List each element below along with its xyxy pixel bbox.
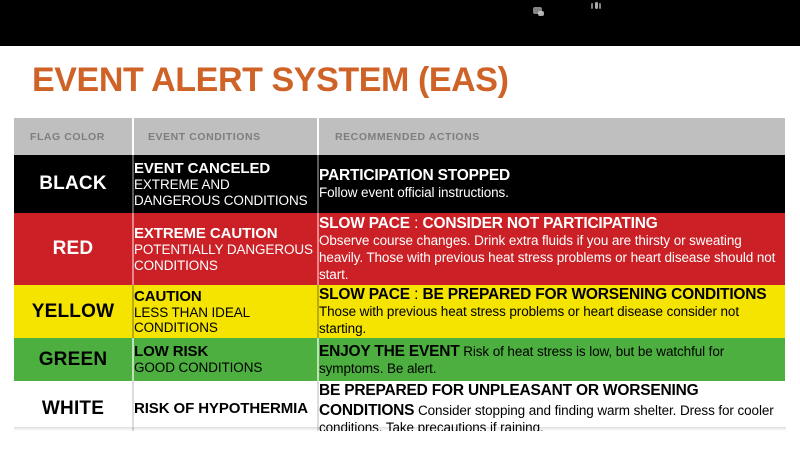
table-row: RED EXTREME CAUTION POTENTIALLY DANGEROU… <box>14 213 785 285</box>
recommended-actions-black: PARTICIPATION STOPPED Follow event offic… <box>318 155 785 213</box>
artifact-speck-icon <box>599 3 601 9</box>
action-headline: PARTICIPATION STOPPED <box>319 167 510 184</box>
action-headline: SLOW PACE <box>319 286 410 303</box>
recommended-actions-yellow: SLOW PACE : BE PREPARED FOR WORSENING CO… <box>318 285 785 338</box>
action-headline: ENJOY THE EVENT <box>319 343 460 360</box>
column-header-flag-color: FLAG COLOR <box>14 118 133 155</box>
event-conditions-green: LOW RISK GOOD CONDITIONS <box>133 338 318 381</box>
column-header-event-conditions: EVENT CONDITIONS <box>133 118 318 155</box>
artifact-speck-icon <box>591 3 593 9</box>
document-sheet: EVENT ALERT SYSTEM (EAS) FLAG COLOR EVEN… <box>14 46 786 428</box>
column-header-recommended-actions: RECOMMENDED ACTIONS <box>318 118 785 155</box>
table-row: GREEN LOW RISK GOOD CONDITIONS ENJOY THE… <box>14 338 785 381</box>
page-bottom-area <box>0 431 800 463</box>
event-conditions-red: EXTREME CAUTION POTENTIALLY DANGEROUS CO… <box>133 213 318 285</box>
event-alert-system-table: FLAG COLOR EVENT CONDITIONS RECOMMENDED … <box>14 118 785 438</box>
recommended-actions-green: ENJOY THE EVENT Risk of heat stress is l… <box>318 338 785 381</box>
flag-color-yellow: YELLOW <box>14 285 133 338</box>
condition-title: CAUTION <box>134 288 317 305</box>
table-header-row: FLAG COLOR EVENT CONDITIONS RECOMMENDED … <box>14 118 785 155</box>
flag-color-red: RED <box>14 213 133 285</box>
action-body: Those with previous heat stress problems… <box>319 304 739 336</box>
artifact-speck-icon <box>595 2 598 9</box>
action-body: Follow event official instructions. <box>319 185 509 200</box>
table-row: BLACK EVENT CANCELED EXTREME AND DANGERO… <box>14 155 785 213</box>
flag-color-black: BLACK <box>14 155 133 213</box>
condition-title: RISK OF HYPOTHERMIA <box>134 400 317 417</box>
condition-title: LOW RISK <box>134 343 317 360</box>
condition-subtitle: LESS THAN IDEAL CONDITIONS <box>134 305 317 336</box>
action-separator: : <box>410 215 423 232</box>
action-headline: SLOW PACE <box>319 215 410 232</box>
table-row: YELLOW CAUTION LESS THAN IDEAL CONDITION… <box>14 285 785 338</box>
action-headline-secondary: CONSIDER NOT PARTICIPATING <box>423 215 658 232</box>
screenshot-root: EVENT ALERT SYSTEM (EAS) FLAG COLOR EVEN… <box>0 0 800 463</box>
condition-title: EXTREME CAUTION <box>134 225 317 242</box>
artifact-speck-icon <box>538 11 544 16</box>
action-body: Observe course changes. Drink extra flui… <box>319 233 775 282</box>
action-headline-secondary: BE PREPARED FOR WORSENING CONDITIONS <box>423 286 767 303</box>
event-conditions-yellow: CAUTION LESS THAN IDEAL CONDITIONS <box>133 285 318 338</box>
event-conditions-black: EVENT CANCELED EXTREME AND DANGEROUS CON… <box>133 155 318 213</box>
page-title: EVENT ALERT SYSTEM (EAS) <box>32 63 509 97</box>
top-black-bar <box>0 0 800 46</box>
condition-subtitle: EXTREME AND DANGEROUS CONDITIONS <box>134 177 317 208</box>
recommended-actions-red: SLOW PACE : CONSIDER NOT PARTICIPATING O… <box>318 213 785 285</box>
action-separator: : <box>410 286 423 303</box>
flag-color-green: GREEN <box>14 338 133 381</box>
condition-subtitle: GOOD CONDITIONS <box>134 360 317 375</box>
condition-subtitle: POTENTIALLY DANGEROUS CONDITIONS <box>134 242 317 273</box>
condition-title: EVENT CANCELED <box>134 160 317 177</box>
